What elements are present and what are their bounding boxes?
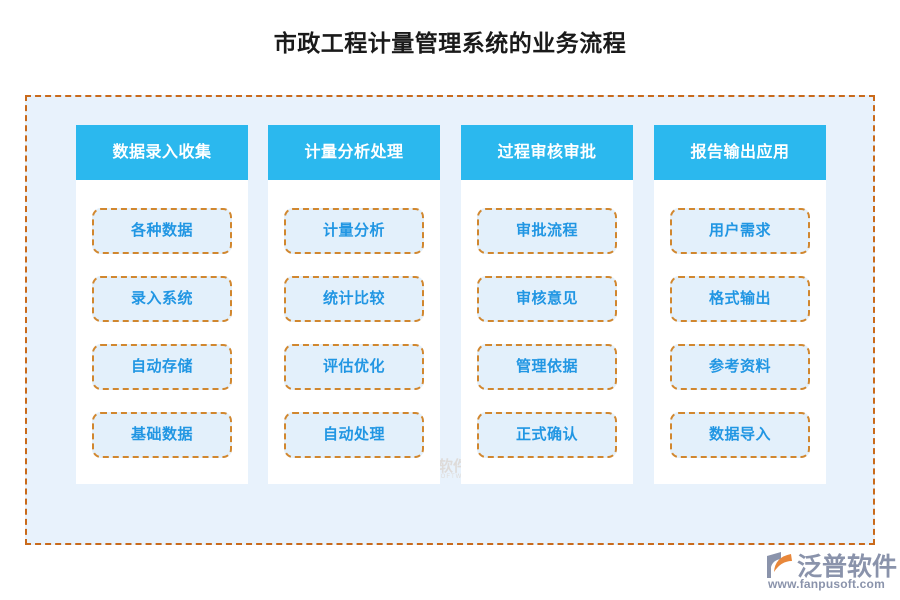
flow-item[interactable]: 统计比较 xyxy=(284,276,424,322)
flow-item[interactable]: 自动处理 xyxy=(284,412,424,458)
flow-item[interactable]: 参考资料 xyxy=(670,344,810,390)
flow-item[interactable]: 数据导入 xyxy=(670,412,810,458)
page-title: 市政工程计量管理系统的业务流程 xyxy=(0,28,900,58)
flow-item[interactable]: 计量分析 xyxy=(284,208,424,254)
column-body-1: 各种数据 录入系统 自动存储 基础数据 xyxy=(76,180,248,484)
column-header-3: 过程审核审批 xyxy=(461,125,633,180)
flow-diagram-container: 泛普软件 FANPU SOFTWARE 数据录入收集 各种数据 录入系统 自动存… xyxy=(25,95,875,545)
column-body-4: 用户需求 格式输出 参考资料 数据导入 xyxy=(654,180,826,484)
flow-item[interactable]: 各种数据 xyxy=(92,208,232,254)
flow-item[interactable]: 管理依据 xyxy=(477,344,617,390)
column-header-4: 报告输出应用 xyxy=(654,125,826,180)
brand-url: www.fanpusoft.com xyxy=(768,577,885,591)
flow-item[interactable]: 用户需求 xyxy=(670,208,810,254)
column-body-3: 审批流程 审核意见 管理依据 正式确认 xyxy=(461,180,633,484)
brand-logo: 泛普软件 www.fanpusoft.com xyxy=(765,549,895,593)
column-header-1: 数据录入收集 xyxy=(76,125,248,180)
flow-item[interactable]: 自动存储 xyxy=(92,344,232,390)
flow-column-data-entry: 数据录入收集 各种数据 录入系统 自动存储 基础数据 xyxy=(76,125,248,484)
flow-column-review-approval: 过程审核审批 审批流程 审核意见 管理依据 正式确认 xyxy=(461,125,633,484)
fanpu-logo-icon xyxy=(765,550,795,580)
flow-item[interactable]: 录入系统 xyxy=(92,276,232,322)
flow-item[interactable]: 评估优化 xyxy=(284,344,424,390)
flow-item[interactable]: 基础数据 xyxy=(92,412,232,458)
column-header-2: 计量分析处理 xyxy=(268,125,440,180)
flow-columns: 数据录入收集 各种数据 录入系统 自动存储 基础数据 计量分析处理 计量分析 统… xyxy=(27,97,877,547)
flow-item[interactable]: 格式输出 xyxy=(670,276,810,322)
flow-column-report-output: 报告输出应用 用户需求 格式输出 参考资料 数据导入 xyxy=(654,125,826,484)
flow-column-measure-analysis: 计量分析处理 计量分析 统计比较 评估优化 自动处理 xyxy=(268,125,440,484)
flow-item[interactable]: 审批流程 xyxy=(477,208,617,254)
column-body-2: 计量分析 统计比较 评估优化 自动处理 xyxy=(268,180,440,484)
flow-item[interactable]: 正式确认 xyxy=(477,412,617,458)
flow-item[interactable]: 审核意见 xyxy=(477,276,617,322)
